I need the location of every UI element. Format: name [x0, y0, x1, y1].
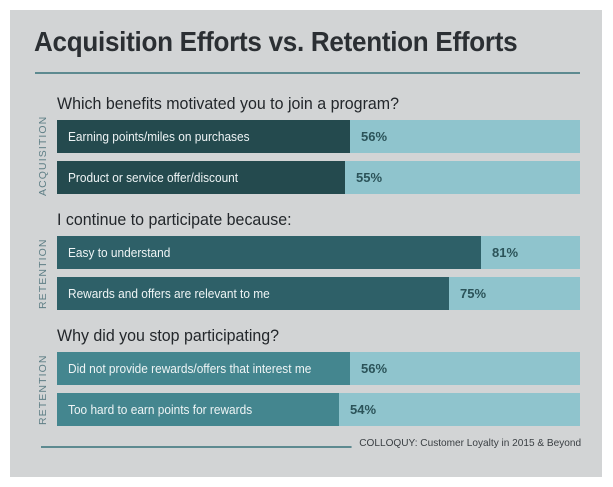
- bar-row[interactable]: Did not provide rewards/offers that inte…: [57, 352, 580, 385]
- infographic-frame: Acquisition Efforts vs. Retention Effort…: [0, 0, 613, 487]
- source-attribution: COLLOQUY: Customer Loyalty in 2015 & Bey…: [351, 437, 581, 449]
- title-divider: [35, 72, 580, 74]
- bar-row-value: 56%: [361, 120, 387, 153]
- bar-row[interactable]: Product or service offer/discount 55%: [57, 161, 580, 194]
- bar-row-label: Easy to understand: [68, 236, 170, 269]
- section-heading: I continue to participate because:: [57, 210, 292, 230]
- bar-row-value: 55%: [356, 161, 382, 194]
- bar-row-value: 54%: [350, 393, 376, 426]
- bar-row-label: Too hard to earn points for rewards: [68, 393, 252, 426]
- bar-row-value: 56%: [361, 352, 387, 385]
- bar-row[interactable]: Easy to understand 81%: [57, 236, 580, 269]
- bar-row-value: 81%: [492, 236, 518, 269]
- section-rows: Easy to understand 81% Rewards and offer…: [57, 236, 580, 318]
- bar-row-label: Earning points/miles on purchases: [68, 120, 250, 153]
- section-rows: Did not provide rewards/offers that inte…: [57, 352, 580, 434]
- bar-row-value: 75%: [460, 277, 486, 310]
- section-category-label: ACQUISITION: [37, 120, 51, 196]
- bar-row[interactable]: Rewards and offers are relevant to me 75…: [57, 277, 580, 310]
- section-rows: Earning points/miles on purchases 56% Pr…: [57, 120, 580, 202]
- bar-row-label: Did not provide rewards/offers that inte…: [68, 352, 311, 385]
- bar-row-label: Product or service offer/discount: [68, 161, 238, 194]
- bar-row[interactable]: Too hard to earn points for rewards 54%: [57, 393, 580, 426]
- page-title: Acquisition Efforts vs. Retention Effort…: [34, 26, 517, 58]
- infographic-panel: Acquisition Efforts vs. Retention Effort…: [10, 10, 602, 477]
- bar-row[interactable]: Earning points/miles on purchases 56%: [57, 120, 580, 153]
- section-heading: Why did you stop participating?: [57, 326, 279, 346]
- section-category-label: RETENTION: [37, 352, 51, 428]
- section-heading: Which benefits motivated you to join a p…: [57, 94, 399, 114]
- section-category-label: RETENTION: [37, 236, 51, 312]
- bar-row-label: Rewards and offers are relevant to me: [68, 277, 270, 310]
